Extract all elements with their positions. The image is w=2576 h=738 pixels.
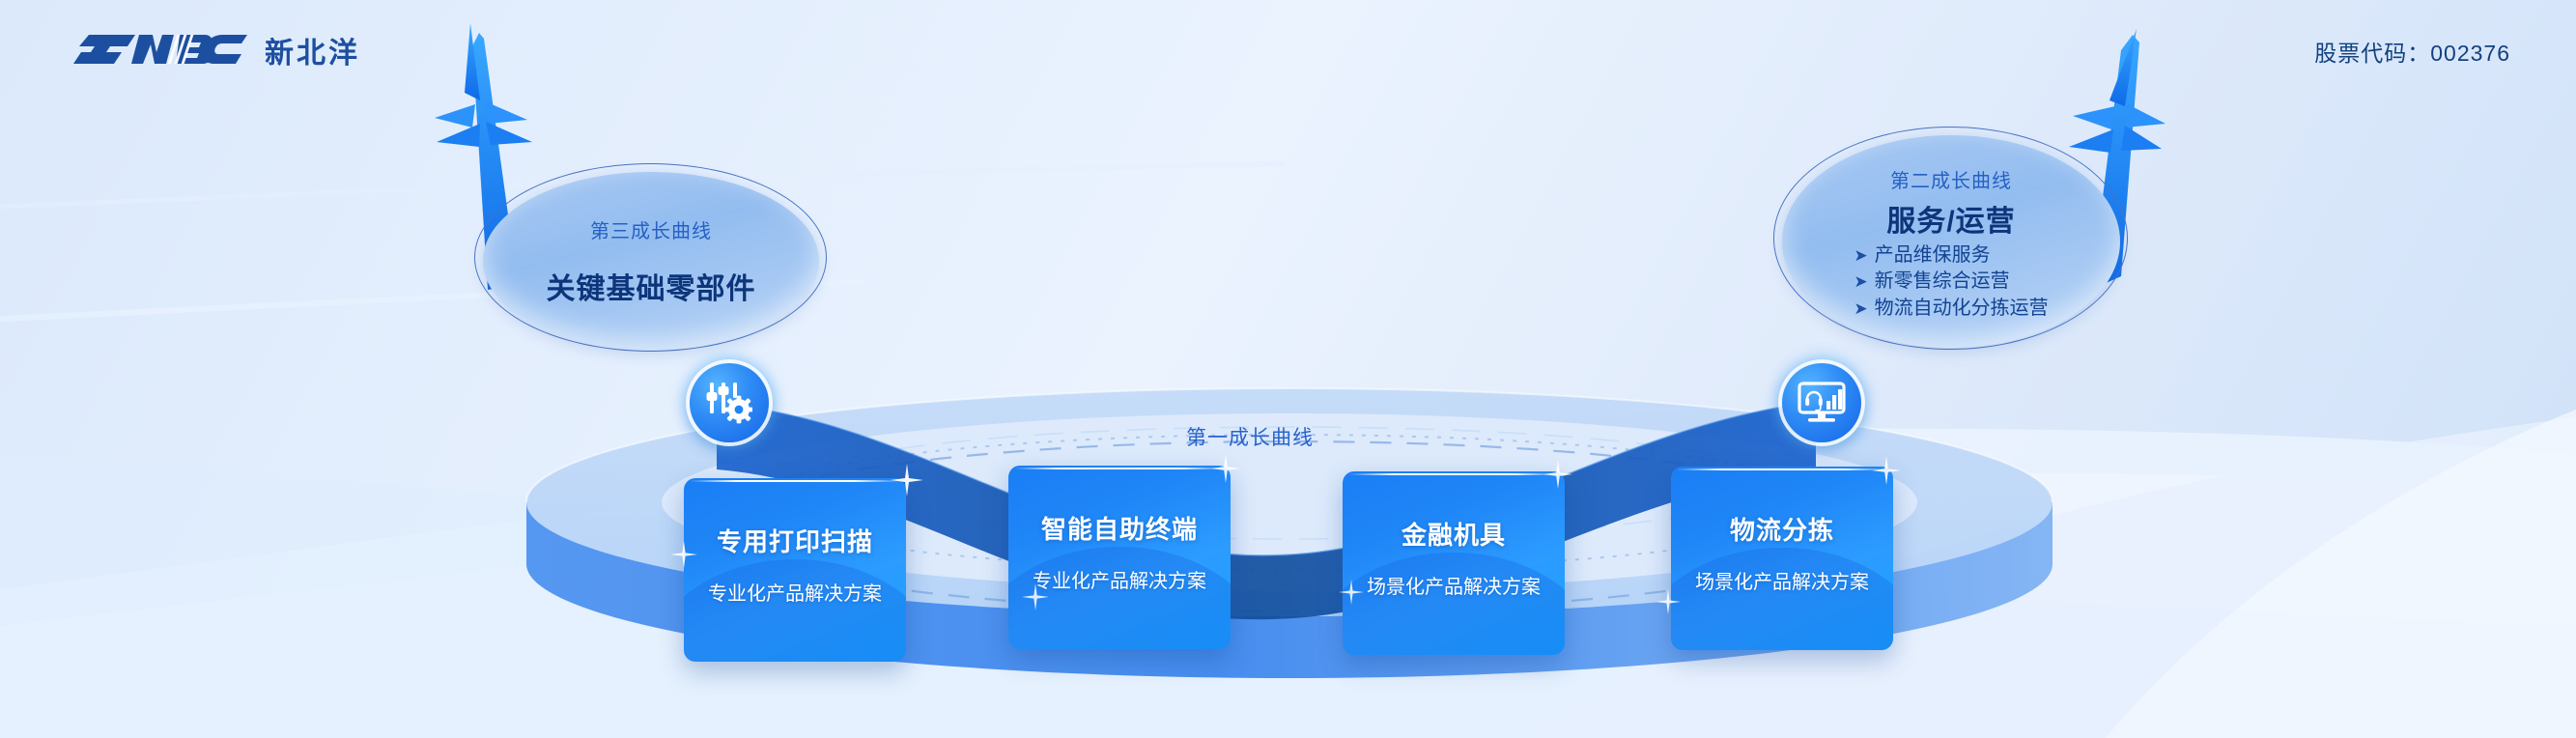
infographic-canvas: 新北洋 股票代码：002376 第三成长曲线 关键基础零部件 第二成长曲线 服务… <box>0 0 2576 738</box>
card-title: 智能自助终端 <box>1041 510 1198 546</box>
card-top-edge <box>1348 473 1559 475</box>
product-card-2[interactable]: 智能自助终端 专业化产品解决方案 <box>1008 466 1231 649</box>
list-item-label: 产品维保服务 <box>1875 242 1991 270</box>
card-subtitle: 场景化产品解决方案 <box>1695 566 1869 594</box>
key-components-badge[interactable] <box>690 363 769 442</box>
card-top-edge <box>690 480 900 482</box>
service-operations-badge[interactable] <box>1782 363 1861 442</box>
third-curve-title: 关键基础零部件 <box>547 265 756 307</box>
card-top-edge <box>1014 468 1225 469</box>
product-card-4[interactable]: 物流分拣 场景化产品解决方案 <box>1671 467 1893 650</box>
card-title: 专用打印扫描 <box>717 523 873 558</box>
card-title: 物流分拣 <box>1730 511 1834 547</box>
first-curve-label: 第一成长曲线 <box>1186 422 1314 451</box>
list-item[interactable]: ➤ 产品维保服务 <box>1854 242 2048 270</box>
card-subtitle: 场景化产品解决方案 <box>1367 571 1541 599</box>
monitor-headset-chart-icon <box>1798 382 1846 424</box>
chevron-right-icon: ➤ <box>1854 244 1867 267</box>
third-growth-curve-bubble[interactable]: 第三成长曲线 关键基础零部件 <box>483 172 819 350</box>
chevron-right-icon: ➤ <box>1854 298 1867 320</box>
sliders-gear-icon <box>706 381 752 425</box>
second-growth-curve-bubble[interactable]: 第二成长曲线 服务/运营 ➤ 产品维保服务 ➤ 新零售综合运营 ➤ 物流自动化分… <box>1782 135 2120 348</box>
list-item-label: 物流自动化分拣运营 <box>1875 296 2049 323</box>
third-curve-subtitle: 第三成长曲线 <box>590 215 712 243</box>
card-subtitle: 专业化产品解决方案 <box>708 578 882 606</box>
stock-code: 股票代码：002376 <box>2314 35 2510 68</box>
list-item[interactable]: ➤ 物流自动化分拣运营 <box>1854 296 2048 323</box>
snbc-logo-icon <box>68 27 251 73</box>
card-title: 金融机具 <box>1401 516 1506 552</box>
second-curve-bullet-list: ➤ 产品维保服务 ➤ 新零售综合运营 ➤ 物流自动化分拣运营 <box>1854 242 2048 323</box>
card-top-edge <box>1677 468 1887 470</box>
list-item[interactable]: ➤ 新零售综合运营 <box>1854 269 2048 296</box>
product-card-3[interactable]: 金融机具 场景化产品解决方案 <box>1343 471 1565 655</box>
list-item-label: 新零售综合运营 <box>1875 269 2010 296</box>
product-card-1[interactable]: 专用打印扫描 专业化产品解决方案 <box>684 478 906 662</box>
card-subtitle: 专业化产品解决方案 <box>1033 565 1206 593</box>
chevron-right-icon: ➤ <box>1854 270 1867 293</box>
brand-logo-cn: 新北洋 <box>265 29 360 71</box>
brand-logo: 新北洋 <box>68 27 360 73</box>
background-decoration <box>0 0 2576 738</box>
second-curve-subtitle: 第二成长曲线 <box>1890 165 2012 193</box>
second-curve-title: 服务/运营 <box>1886 197 2015 240</box>
